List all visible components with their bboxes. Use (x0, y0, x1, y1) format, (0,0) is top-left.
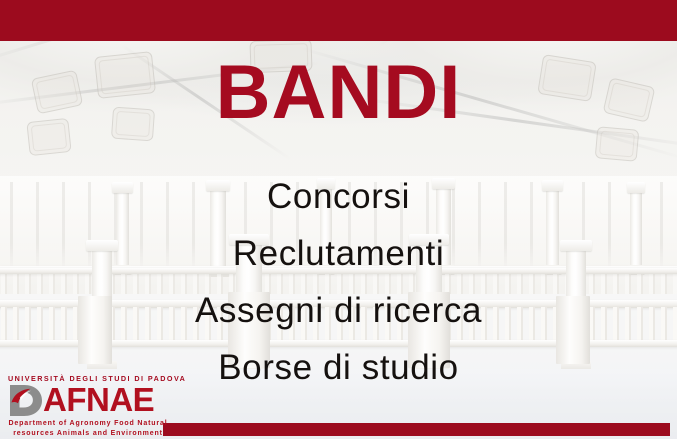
announcement-category-list: Concorsi Reclutamenti Assegni di ricerca… (0, 168, 677, 396)
red-banner-top (0, 0, 677, 41)
logo-d-leaf-icon (8, 384, 44, 417)
ceiling-fresco (595, 126, 640, 162)
list-item: Assegni di ricerca (0, 282, 677, 339)
logo-acronym: AFNAE (43, 384, 154, 415)
list-item: Reclutamenti (0, 225, 677, 282)
dafnae-logo: UNIVERSITÀ DEGLI STUDI DI PADOVA AFNAE D… (8, 374, 176, 438)
poster-root: BANDI Concorsi Reclutamenti Assegni di r… (0, 0, 677, 439)
logo-department-line-1: Department of Agronomy Food Natural (8, 419, 168, 429)
red-banner-bottom (163, 423, 670, 436)
logo-department-line-2: resources Animals and Environment (8, 429, 168, 439)
logo-wordmark: AFNAE (8, 384, 176, 417)
list-item: Concorsi (0, 168, 677, 225)
page-title: BANDI (0, 55, 677, 131)
